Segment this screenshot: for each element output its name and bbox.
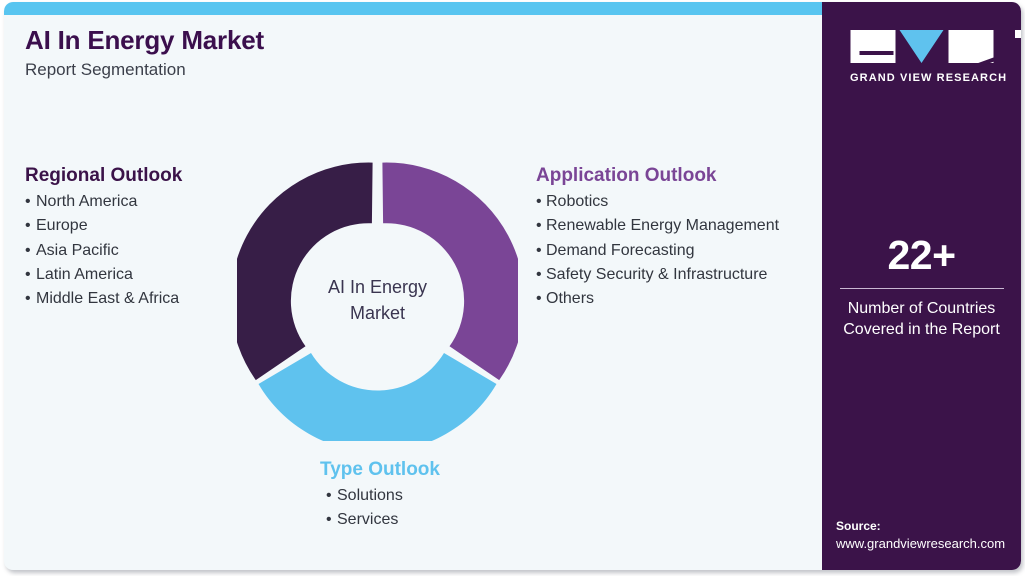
grand-view-research-logo: GRAND VIEW RESEARCH bbox=[850, 30, 993, 84]
logo-wordmark: GRAND VIEW RESEARCH bbox=[850, 72, 993, 84]
regional-outlook-heading: Regional Outlook bbox=[25, 164, 182, 187]
regional-outlook-list: North America Europe Asia Pacific Latin … bbox=[25, 190, 182, 312]
panel-corner-notch bbox=[1015, 30, 1021, 38]
list-item: Asia Pacific bbox=[25, 239, 182, 263]
source-title: Source: bbox=[836, 518, 1005, 535]
top-accent-strip bbox=[4, 2, 824, 15]
stat-label-line-1: Number of Countries bbox=[822, 298, 1021, 319]
donut-chart: AI In Energy Market bbox=[237, 160, 518, 441]
stat-divider bbox=[840, 288, 1004, 289]
statistic-block: 22+ Number of Countries Covered in the R… bbox=[822, 235, 1021, 340]
donut-chart-svg bbox=[237, 160, 518, 441]
logo-marks bbox=[850, 30, 993, 63]
donut-segment-application[interactable] bbox=[382, 163, 518, 381]
list-item: Renewable Energy Management bbox=[536, 214, 779, 238]
list-item: Demand Forecasting bbox=[536, 239, 779, 263]
list-item: Robotics bbox=[536, 190, 779, 214]
logo-r-icon bbox=[948, 30, 993, 63]
type-outlook-list: Solutions Services bbox=[320, 484, 440, 533]
list-item: Latin America bbox=[25, 263, 182, 287]
list-item: North America bbox=[25, 190, 182, 214]
list-item: Europe bbox=[25, 214, 182, 238]
list-item: Services bbox=[326, 508, 440, 532]
list-item: Safety Security & Infrastructure bbox=[536, 263, 779, 287]
stat-value: 22+ bbox=[822, 235, 1021, 276]
application-outlook-list: Robotics Renewable Energy Management Dem… bbox=[536, 190, 779, 312]
donut-segment-regional[interactable] bbox=[237, 163, 373, 381]
side-panel: GRAND VIEW RESEARCH 22+ Number of Countr… bbox=[822, 2, 1021, 570]
page-title: AI In Energy Market bbox=[25, 26, 785, 55]
application-outlook-block: Application Outlook Robotics Renewable E… bbox=[536, 164, 779, 312]
infographic-root: AI In Energy Market Report Segmentation … bbox=[0, 0, 1025, 576]
donut-segment-type[interactable] bbox=[259, 353, 497, 441]
source-block: Source: www.grandviewresearch.com bbox=[836, 518, 1005, 554]
list-item: Others bbox=[536, 287, 779, 311]
source-url[interactable]: www.grandviewresearch.com bbox=[836, 535, 1005, 554]
type-outlook-block: Type Outlook Solutions Services bbox=[320, 458, 440, 533]
regional-outlook-block: Regional Outlook North America Europe As… bbox=[25, 164, 182, 312]
type-outlook-heading: Type Outlook bbox=[320, 458, 440, 481]
page-subtitle: Report Segmentation bbox=[25, 61, 785, 80]
list-item: Middle East & Africa bbox=[25, 287, 182, 311]
header: AI In Energy Market Report Segmentation bbox=[25, 26, 785, 79]
logo-v-triangle-icon bbox=[900, 30, 944, 63]
report-card: AI In Energy Market Report Segmentation … bbox=[4, 2, 1021, 570]
list-item: Solutions bbox=[326, 484, 440, 508]
logo-g-icon bbox=[850, 30, 895, 63]
stat-label-line-2: Covered in the Report bbox=[822, 319, 1021, 340]
application-outlook-heading: Application Outlook bbox=[536, 164, 779, 187]
